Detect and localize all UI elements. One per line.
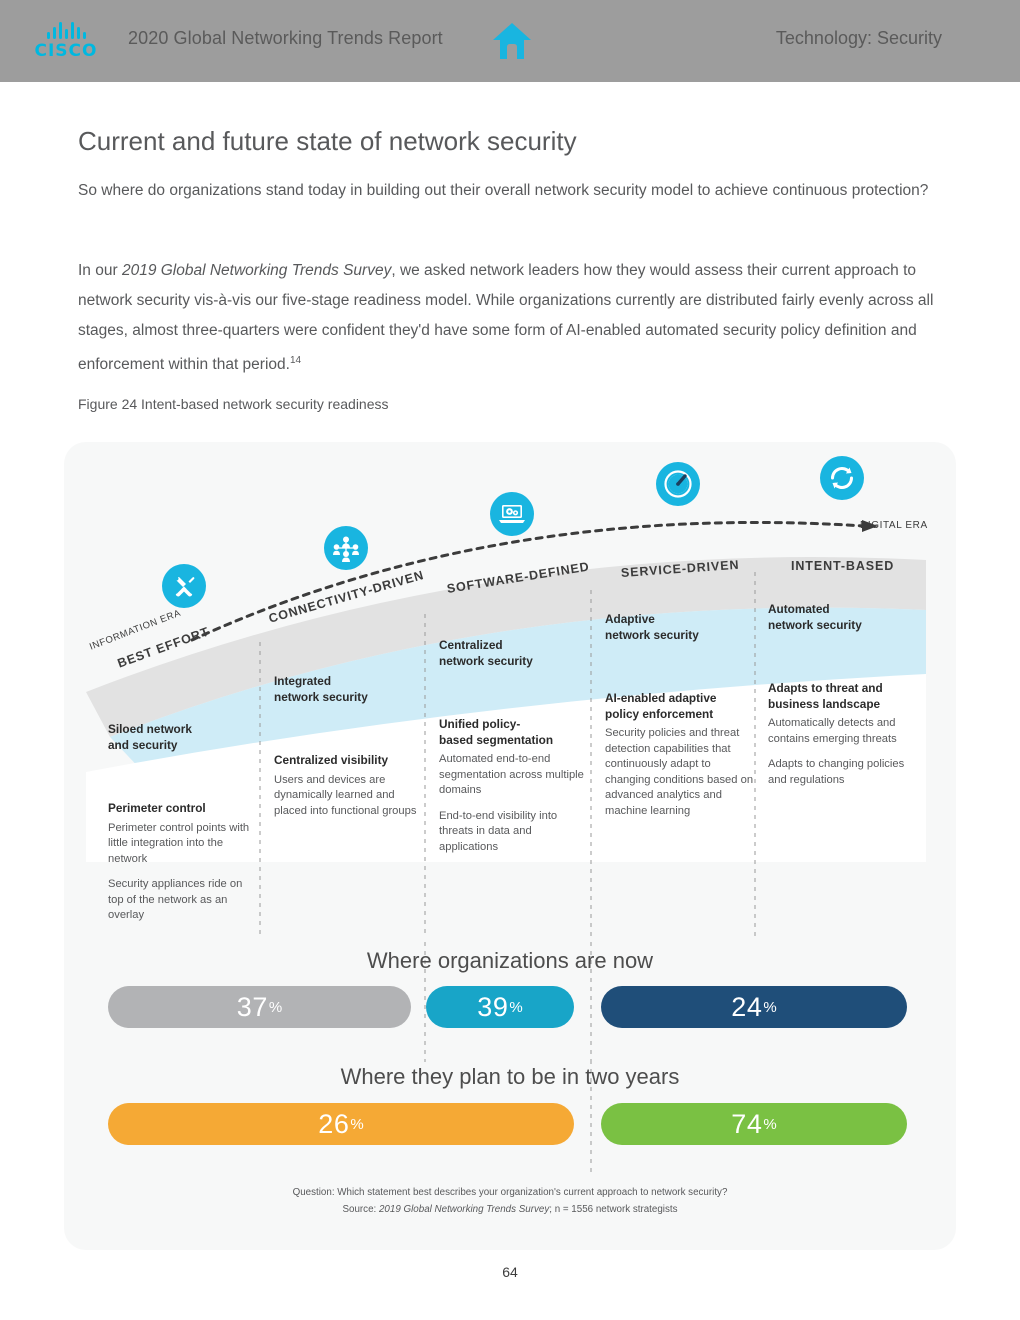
- stage-point: Automatically detects and contains emerg…: [768, 716, 918, 747]
- footnote-source-italic: 2019 Global Networking Trends Survey: [379, 1204, 549, 1215]
- bar-unit: %: [350, 1116, 363, 1133]
- figure-panel: INFORMATION ERA DIGITAL ERA BEST EFFORT …: [64, 442, 956, 1250]
- bar-future-2: 74%: [601, 1103, 907, 1145]
- chart-title-future: Where they plan to be in two years: [64, 1064, 956, 1090]
- cisco-logo-text: CISCO: [35, 41, 98, 61]
- stage-label-intent-based: INTENT-BASED: [791, 559, 894, 573]
- intro-paragraph: So where do organizations stand today in…: [78, 176, 948, 206]
- stage-point: Security appliances ride on top of the n…: [108, 877, 258, 924]
- era-label-end: DIGITAL ERA: [860, 520, 928, 531]
- survey-paragraph-pre: In our: [78, 262, 122, 279]
- stage-sub-connectivity-driven: Centralized visibility: [274, 753, 424, 769]
- figure-footnote-source: Source: 2019 Global Networking Trends Su…: [64, 1201, 956, 1218]
- bar-value-future-2: 74: [731, 1109, 762, 1140]
- stage-column-connectivity-driven: Integrated network security Centralized …: [274, 674, 424, 829]
- stage-sub-software-defined: Unified policy- based segmentation: [439, 717, 589, 748]
- stage-column-service-driven: Adaptive network security AI-enabled ada…: [605, 612, 755, 829]
- stage-sub-intent-based: Adapts to threat and business landscape: [768, 681, 918, 712]
- stage-point: Automated end-to-end segmentation across…: [439, 752, 589, 799]
- header-report-title: 2020 Global Networking Trends Report: [128, 28, 443, 49]
- survey-name-italic: 2019 Global Networking Trends Survey: [122, 262, 391, 279]
- laptop-gears-icon: [490, 492, 534, 536]
- bar-value-now-3: 24: [731, 992, 762, 1023]
- bar-value-now-1: 37: [237, 992, 268, 1023]
- network-users-icon: [324, 526, 368, 570]
- page-header: CISCO 2020 Global Networking Trends Repo…: [0, 0, 1020, 82]
- stage-headline-software-defined: Centralized network security: [439, 638, 589, 669]
- footnote-marker: 14: [290, 355, 301, 366]
- bar-unit: %: [763, 999, 776, 1016]
- page-number: 64: [0, 1264, 1020, 1280]
- stage-headline-service-driven: Adaptive network security: [605, 612, 755, 643]
- tools-icon: [162, 564, 206, 608]
- gauge-icon: [656, 462, 700, 506]
- stage-point: Security policies and threat detection c…: [605, 726, 755, 819]
- survey-paragraph: In our 2019 Global Networking Trends Sur…: [78, 256, 948, 380]
- chart-title-now: Where organizations are now: [64, 948, 956, 974]
- stage-point: Adapts to changing policies and regulati…: [768, 757, 918, 788]
- stage-point: Perimeter control points with little int…: [108, 821, 258, 868]
- bar-value-now-2: 39: [477, 992, 508, 1023]
- bar-now-1: 37%: [108, 986, 411, 1028]
- stage-column-intent-based: Automated network security Adapts to thr…: [768, 602, 918, 798]
- stage-column-software-defined: Centralized network security Unified pol…: [439, 638, 589, 865]
- bar-unit: %: [269, 999, 282, 1016]
- bar-now-2: 39%: [426, 986, 574, 1028]
- stage-headline-intent-based: Automated network security: [768, 602, 918, 633]
- bar-value-future-1: 26: [318, 1109, 349, 1140]
- stage-sub-best-effort: Perimeter control: [108, 801, 258, 817]
- stage-column-best-effort: Siloed network and security Perimeter co…: [108, 722, 258, 934]
- figure-caption: Figure 24 Intent-based network security …: [78, 396, 389, 412]
- stage-point: End-to-end visibility into threats in da…: [439, 809, 589, 856]
- page-title: Current and future state of network secu…: [78, 126, 577, 157]
- bar-unit: %: [763, 1116, 776, 1133]
- footnote-source-pre: Source:: [342, 1204, 379, 1215]
- figure-footnote-question: Question: Which statement best describes…: [64, 1184, 956, 1201]
- stage-headline-connectivity-driven: Integrated network security: [274, 674, 424, 705]
- bar-now-3: 24%: [601, 986, 907, 1028]
- stage-point: Users and devices are dynamically learne…: [274, 773, 424, 820]
- footnote-source-post: ; n = 1556 network strategists: [549, 1204, 677, 1215]
- bar-unit: %: [509, 999, 522, 1016]
- home-icon[interactable]: [490, 20, 534, 62]
- stage-sub-service-driven: AI-enabled adaptive policy enforcement: [605, 691, 755, 722]
- stage-headline-best-effort: Siloed network and security: [108, 722, 258, 753]
- bar-future-1: 26%: [108, 1103, 574, 1145]
- cisco-logo-bars: [47, 22, 86, 39]
- cisco-logo: CISCO: [30, 22, 102, 64]
- refresh-cycle-icon: [820, 456, 864, 500]
- header-section-title: Technology: Security: [776, 28, 942, 49]
